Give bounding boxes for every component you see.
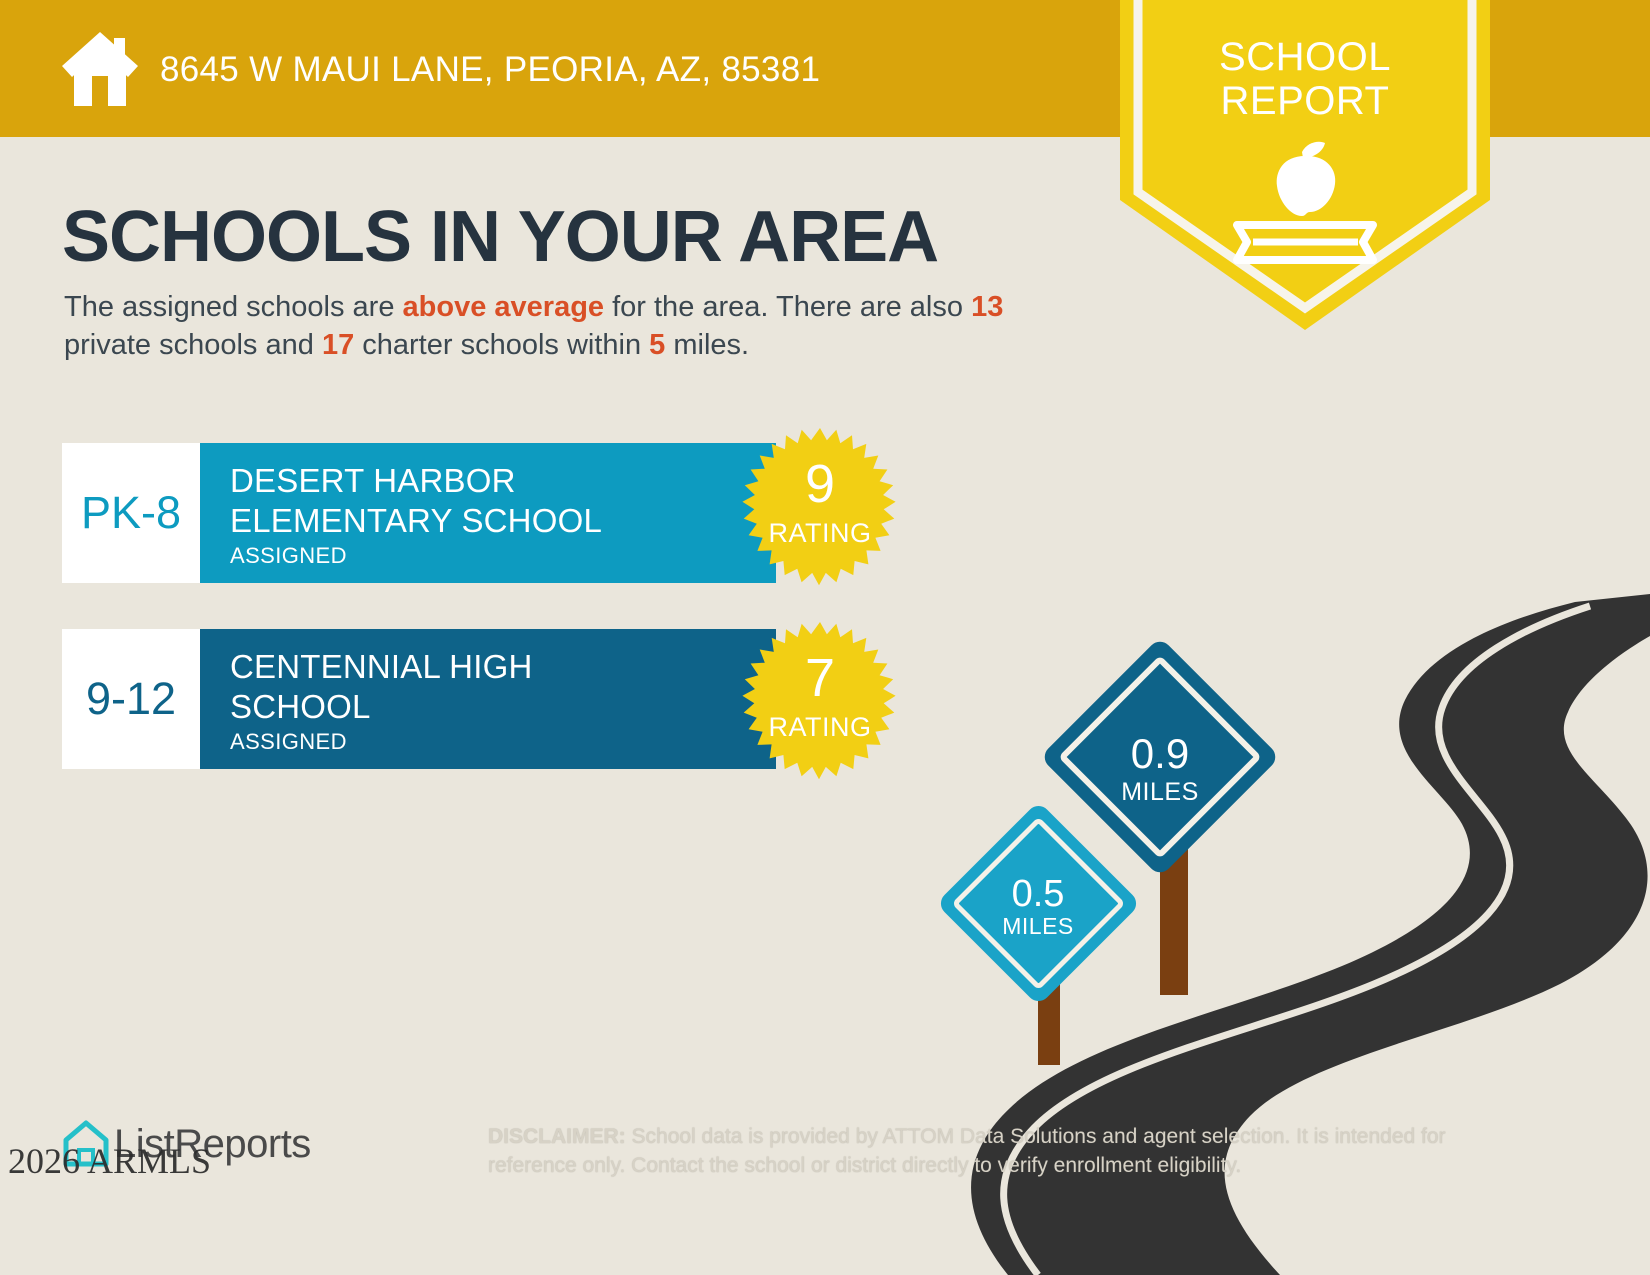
rating-label: RATING	[734, 518, 906, 549]
status-badge: 9 RATING	[734, 426, 906, 598]
sign-distance-value: 0.9	[1070, 732, 1250, 776]
subtitle-part-4: charter schools within	[354, 329, 649, 361]
page-subtitle: The assigned schools are above average f…	[64, 288, 1094, 364]
sign-distance-label: MILES	[948, 913, 1128, 940]
home-icon	[60, 30, 140, 108]
subtitle-part-5: miles.	[665, 329, 749, 361]
school-name-bar: CENTENNIAL HIGH SCHOOL ASSIGNED	[200, 629, 776, 769]
school-name-bar: DESERT HARBOR ELEMENTARY SCHOOL ASSIGNED	[200, 443, 776, 583]
school-name: DESERT HARBOR ELEMENTARY SCHOOL	[230, 461, 670, 541]
subtitle-highlight-radius: 5	[649, 329, 665, 361]
subtitle-part-3: private schools and	[64, 329, 322, 361]
school-status: ASSIGNED	[230, 543, 347, 569]
page-title: SCHOOLS IN YOUR AREA	[62, 196, 938, 278]
school-report-page: 8645 W MAUI LANE, PEORIA, AZ, 85381 SCHO…	[0, 0, 1650, 1275]
subtitle-highlight-private-count: 13	[971, 291, 1003, 323]
disclaimer-body: School data is provided by ATTOM Data So…	[488, 1125, 1446, 1177]
table-row[interactable]: PK-8 DESERT HARBOR ELEMENTARY SCHOOL ASS…	[62, 443, 852, 583]
property-address: 8645 W MAUI LANE, PEORIA, AZ, 85381	[160, 50, 820, 90]
subtitle-part-2: for the area. There are also	[604, 291, 971, 323]
badge-title: SCHOOL REPORT	[1120, 35, 1490, 123]
school-status: ASSIGNED	[230, 729, 347, 755]
rating-value: 7	[734, 650, 906, 706]
disclaimer-label: DISCLAIMER:	[488, 1125, 626, 1148]
badge-line-2: REPORT	[1221, 79, 1390, 123]
school-grade-label: 9-12	[86, 673, 176, 725]
school-grade-label: PK-8	[81, 487, 181, 539]
status-badge: 7 RATING	[734, 620, 906, 792]
armls-watermark: 2026 ARMLS	[8, 1140, 211, 1182]
subtitle-highlight-charter-count: 17	[322, 329, 354, 361]
rating-label: RATING	[734, 712, 906, 743]
badge-line-1: SCHOOL	[1219, 35, 1391, 79]
school-report-badge: SCHOOL REPORT	[1120, 0, 1490, 330]
school-grade-box: PK-8	[62, 443, 200, 583]
rating-value: 9	[734, 456, 906, 512]
disclaimer-text: DISCLAIMER: School data is provided by A…	[488, 1122, 1498, 1180]
sign-distance-value: 0.5	[948, 872, 1128, 916]
subtitle-highlight-average: above average	[403, 291, 605, 323]
subtitle-part-1: The assigned schools are	[64, 291, 403, 323]
sign-distance-label: MILES	[1070, 778, 1250, 807]
school-grade-box: 9-12	[62, 629, 200, 769]
table-row[interactable]: 9-12 CENTENNIAL HIGH SCHOOL ASSIGNED 7 R…	[62, 629, 852, 769]
school-name: CENTENNIAL HIGH SCHOOL	[230, 647, 670, 727]
